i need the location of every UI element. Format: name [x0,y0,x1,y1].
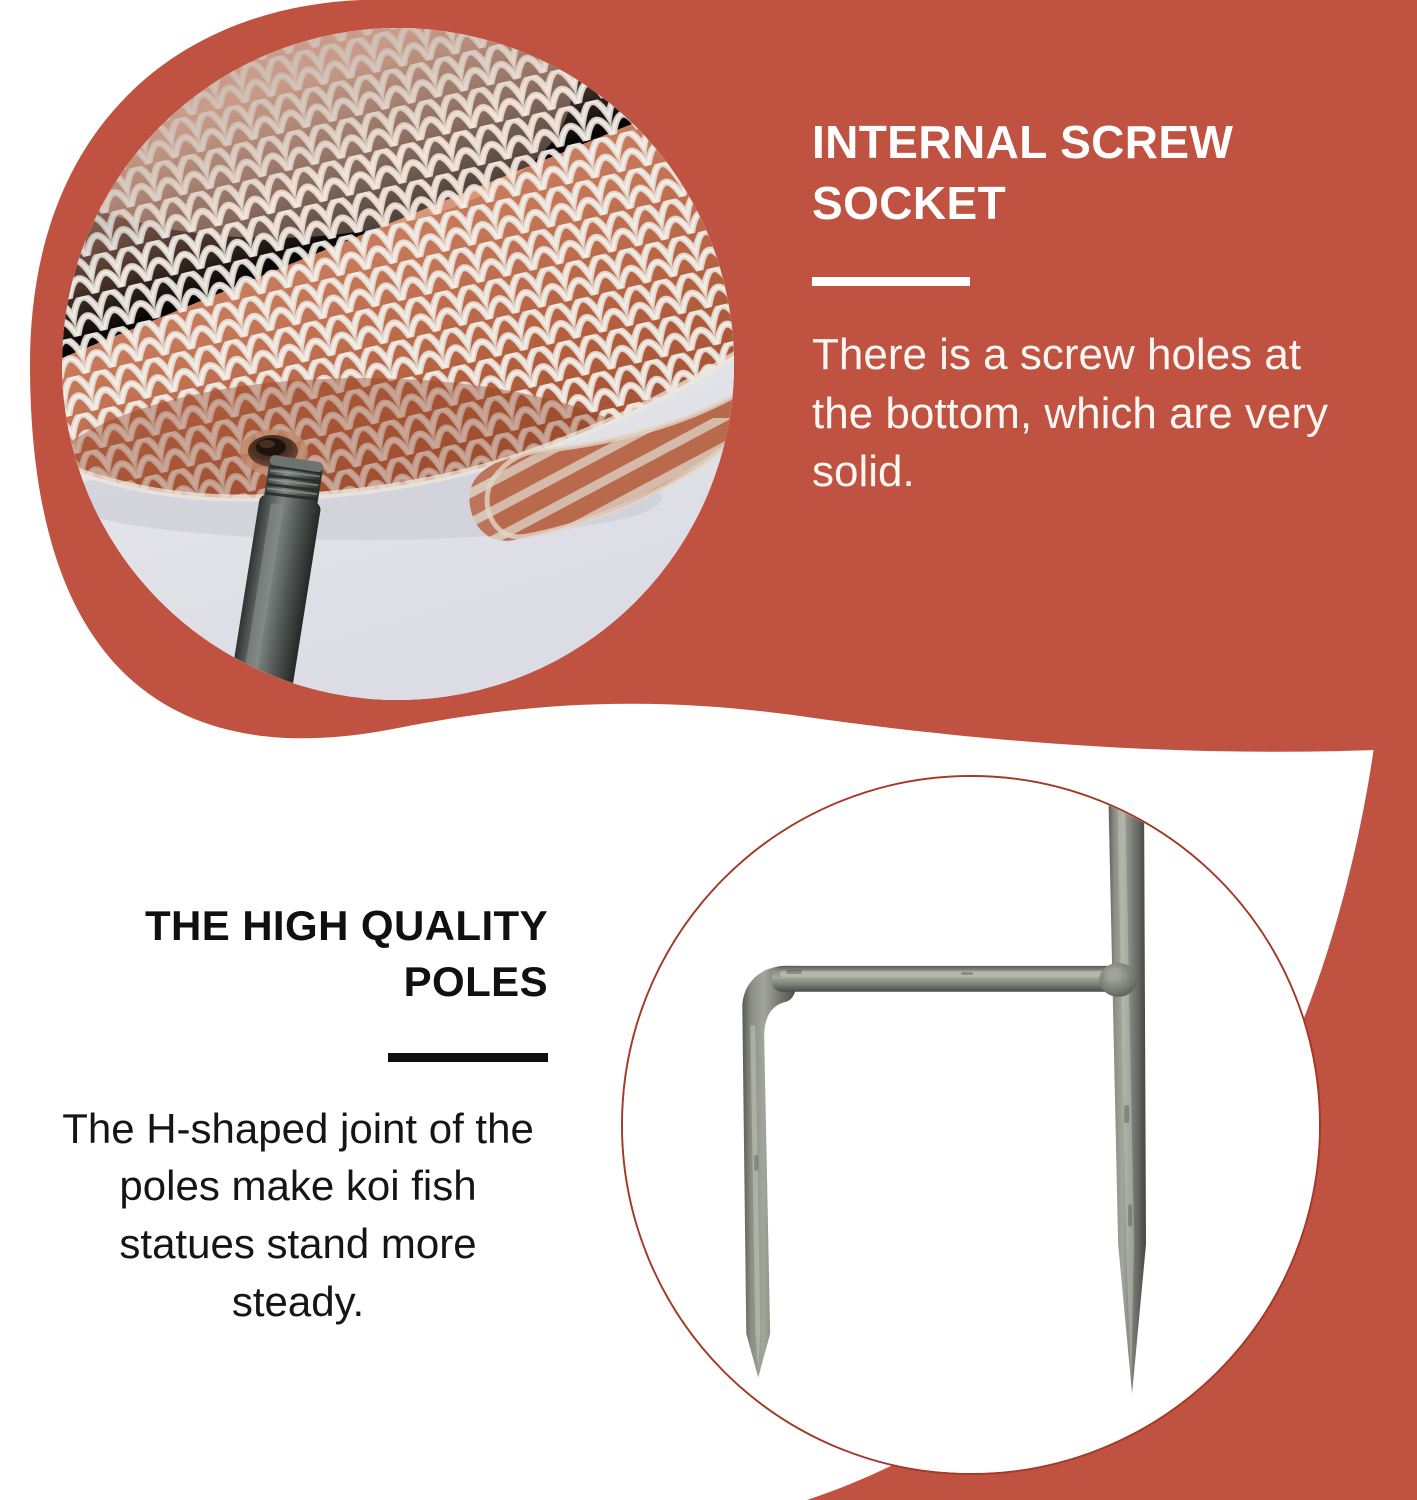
h-stake-illustration [623,777,1319,1473]
section-2-text-block: THE HIGH QUALITY POLES The H-shaped join… [48,898,548,1331]
koi-fish-screw-socket-photo [62,28,734,700]
section-1-heading: INTERNAL SCREW SOCKET [812,112,1332,233]
section-2-divider-wrap [48,1011,548,1100]
section-2-heading: THE HIGH QUALITY POLES [48,898,548,1011]
stake-weld-joint [1099,963,1137,997]
stake-crossbar [772,966,1130,992]
section-1-body: There is a screw holes at the bottom, wh… [812,326,1332,500]
infographic-page: INTERNAL SCREW SOCKET There is a screw h… [0,0,1417,1500]
section-1-divider [812,277,970,286]
h-shaped-metal-stake-photo [621,775,1321,1475]
section-2-body: The H-shaped joint of the poles make koi… [48,1100,548,1332]
section-2-divider [388,1053,548,1062]
section-1-text-block: INTERNAL SCREW SOCKET There is a screw h… [812,112,1332,501]
koi-scale-illustration [62,28,734,700]
